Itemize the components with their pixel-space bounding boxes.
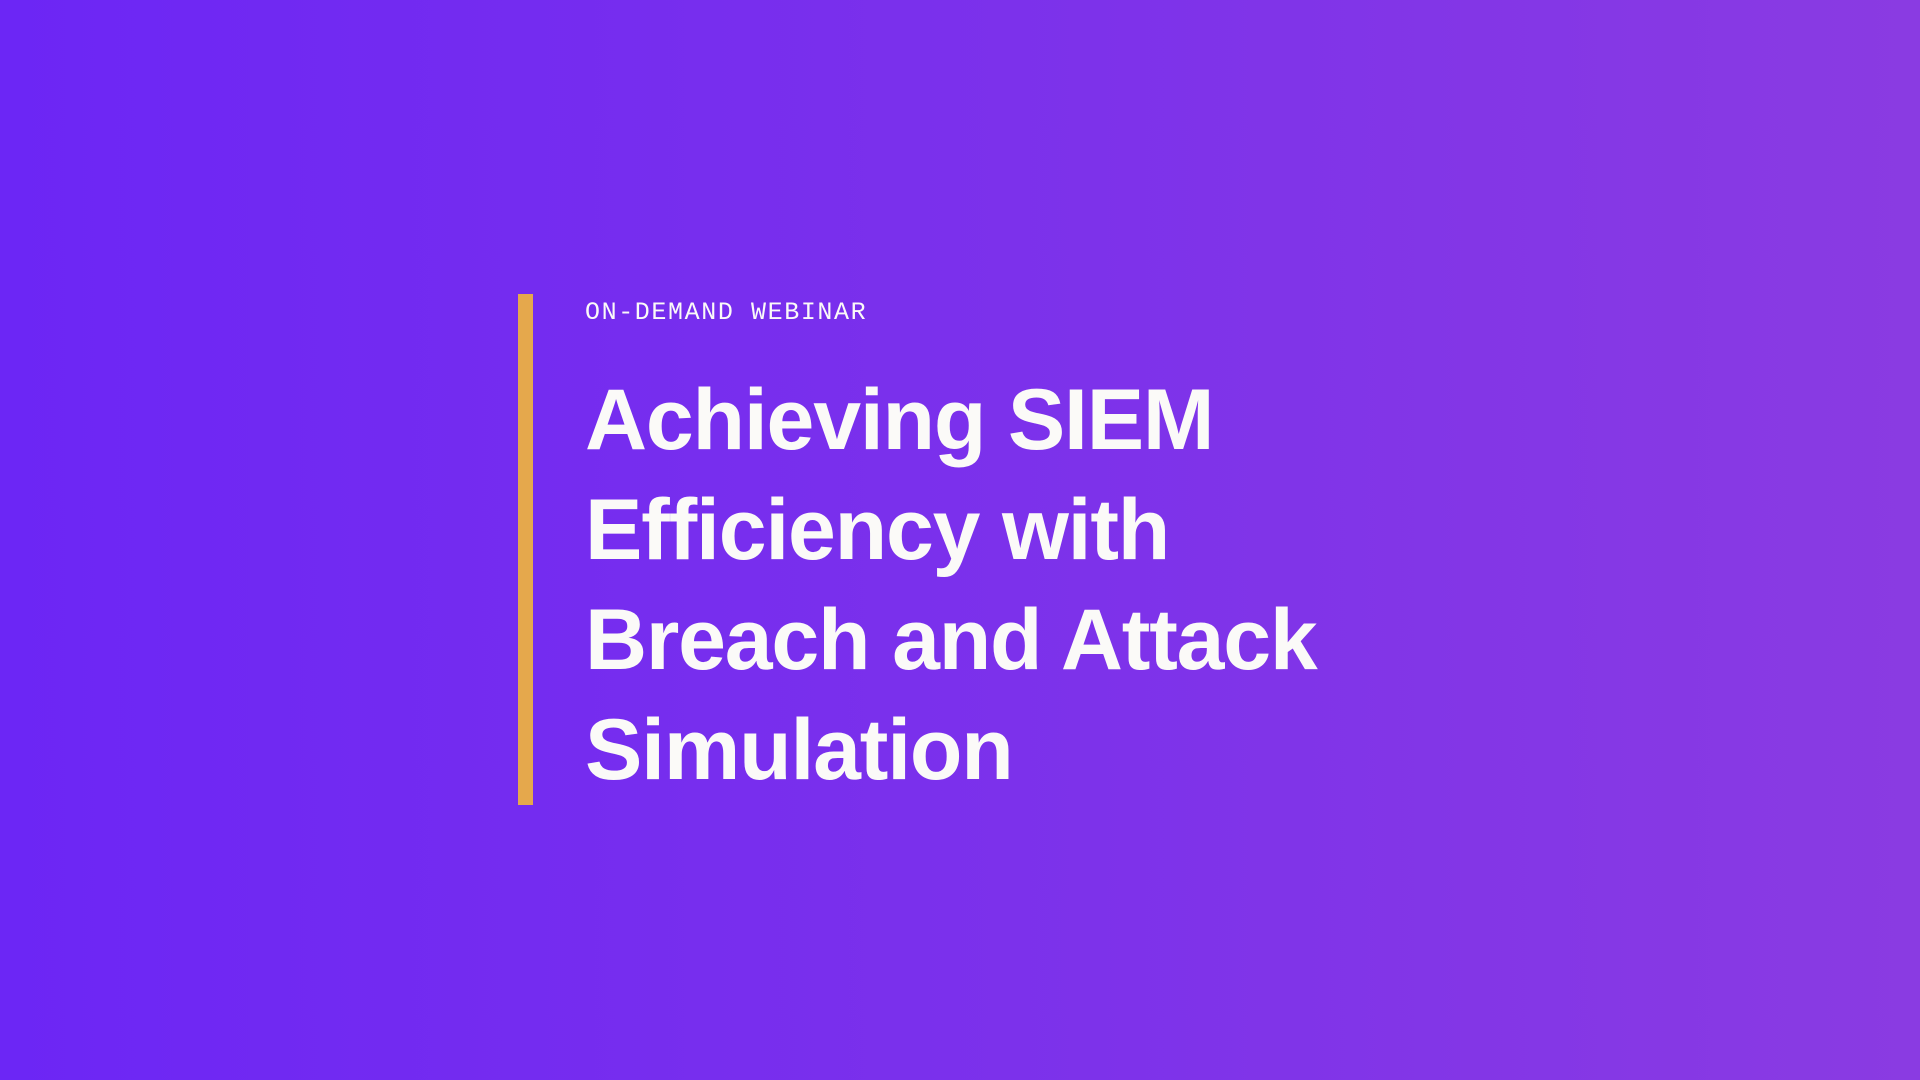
headline-line-3: Breach and Attack — [585, 585, 1317, 695]
eyebrow-label: ON-DEMAND WEBINAR — [585, 294, 1317, 325]
headline-line-2: Efficiency with — [585, 475, 1317, 585]
content-block: ON-DEMAND WEBINAR Achieving SIEM Efficie… — [518, 294, 1317, 805]
headline-line-1: Achieving SIEM — [585, 365, 1317, 475]
webinar-title-slide: ON-DEMAND WEBINAR Achieving SIEM Efficie… — [0, 0, 1920, 1080]
text-column: ON-DEMAND WEBINAR Achieving SIEM Efficie… — [533, 294, 1317, 805]
page-title: Achieving SIEM Efficiency with Breach an… — [585, 325, 1317, 805]
accent-bar — [518, 294, 533, 805]
headline-line-4: Simulation — [585, 695, 1317, 805]
